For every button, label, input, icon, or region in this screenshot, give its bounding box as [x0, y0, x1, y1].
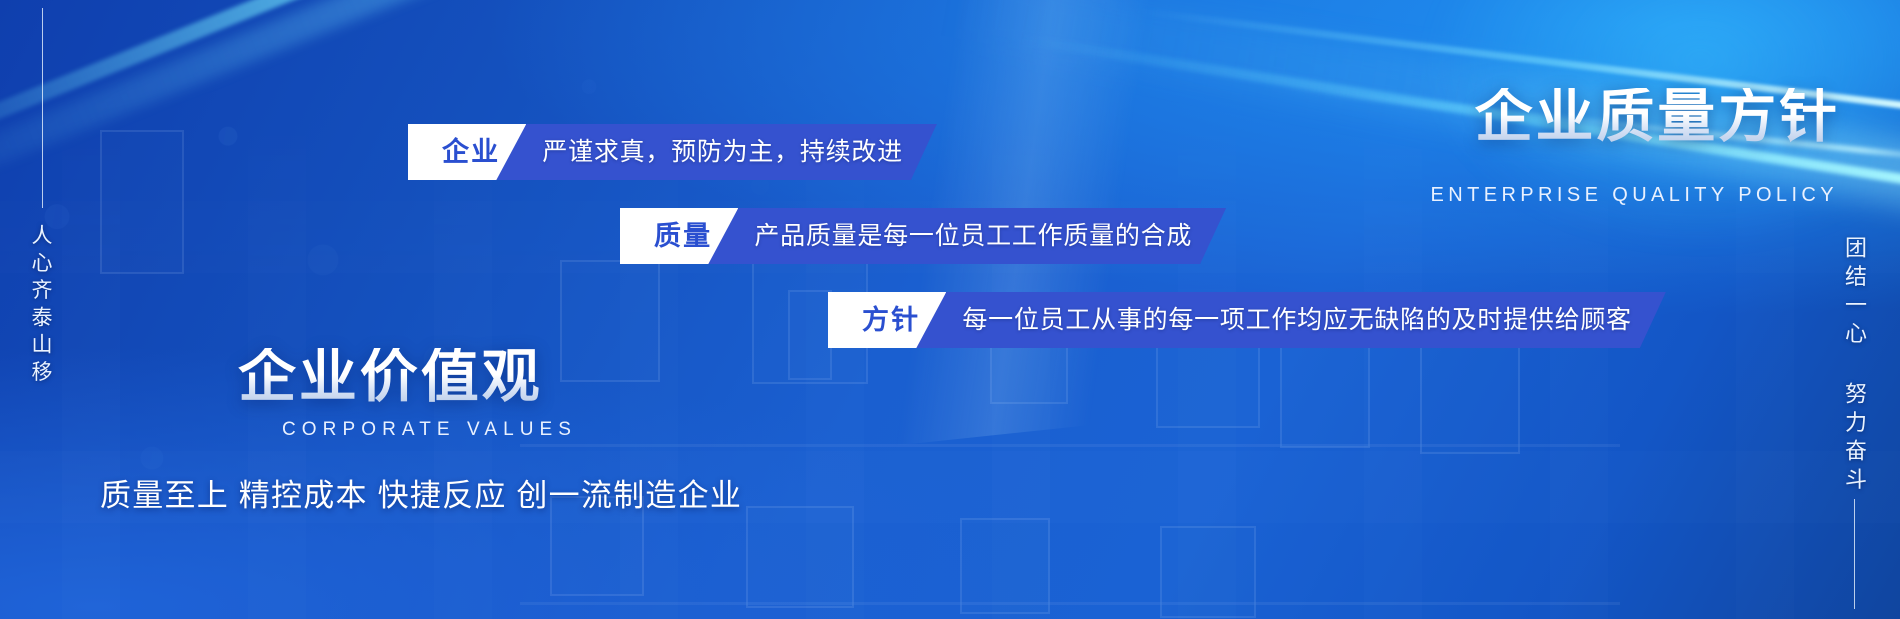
policy-title: 企业质量方针 — [1475, 88, 1840, 146]
policy-ribbon-1: 企业 严谨求真，预防为主，持续改进 — [408, 124, 937, 180]
policy-ribbon-2: 质量 产品质量是每一位员工工作质量的合成 — [620, 208, 1226, 264]
ribbon-bar-text: 每一位员工从事的每一项工作均应无缺陷的及时提供给顾客 — [962, 308, 1632, 333]
ribbon-bar-3: 每一位员工从事的每一项工作均应无缺陷的及时提供给顾客 — [916, 292, 1666, 348]
left-vertical-rule — [42, 8, 43, 208]
values-subtitle: CORPORATE VALUES — [282, 420, 577, 439]
right-vertical-rule — [1854, 499, 1855, 609]
left-vertical-text: 人心齐泰山移 — [26, 224, 56, 388]
banner-canvas: 人心齐泰山移 团结一心 努力奋斗 企业质量方针 ENTERPRISE QUALI… — [0, 0, 1900, 619]
ribbon-bar-1: 严谨求真，预防为主，持续改进 — [496, 124, 937, 180]
ribbon-tag-label: 质量 — [654, 223, 712, 250]
ribbon-bar-text: 产品质量是每一位员工工作质量的合成 — [754, 224, 1192, 249]
values-slogan: 质量至上 精控成本 快捷反应 创一流制造企业 — [100, 480, 742, 511]
right-vertical-text: 团结一心 努力奋斗 — [1838, 236, 1870, 496]
ribbon-tag-label: 企业 — [442, 139, 500, 166]
ribbon-bar-2: 产品质量是每一位员工工作质量的合成 — [708, 208, 1226, 264]
ribbon-bar-text: 严谨求真，预防为主，持续改进 — [542, 140, 903, 165]
policy-subtitle: ENTERPRISE QUALITY POLICY — [1431, 185, 1839, 205]
policy-ribbon-3: 方针 每一位员工从事的每一项工作均应无缺陷的及时提供给顾客 — [828, 292, 1666, 348]
values-title: 企业价值观 — [238, 348, 543, 406]
background-corner-shade — [0, 199, 560, 619]
ribbon-tag-label: 方针 — [862, 307, 920, 334]
